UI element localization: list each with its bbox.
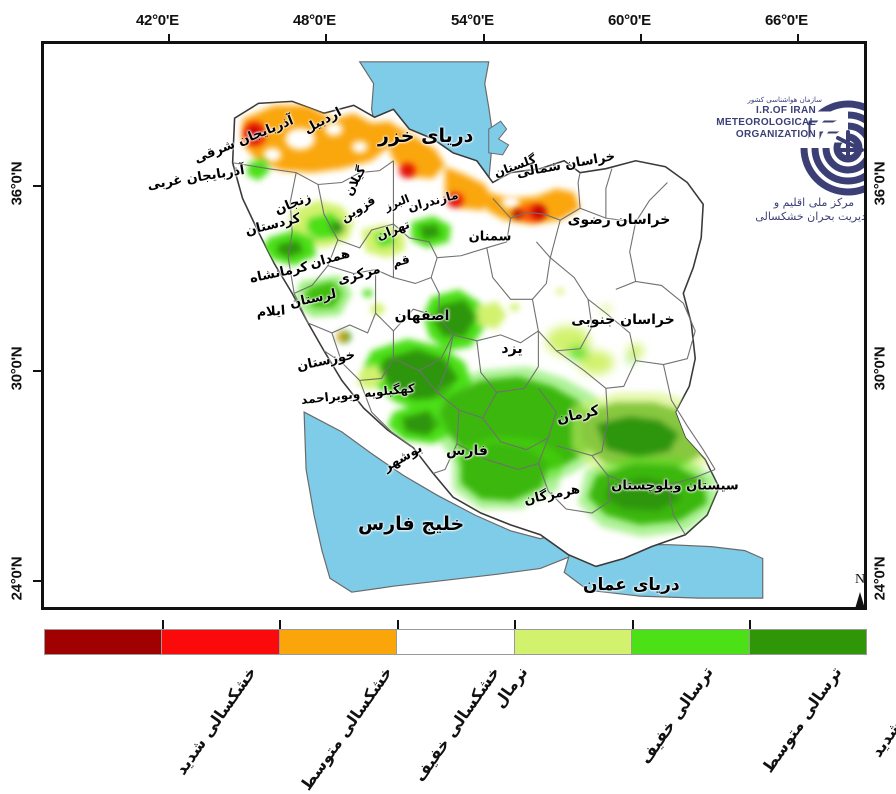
legend-tick-3 [397,620,399,629]
legend-label-mild-drought: خشکسالی خفیف [410,663,503,785]
legend-label-mild-wet: ترسالی خفیف [636,663,717,767]
province-label-yazd: یزد [501,341,522,357]
logo-caption-line1: مرکز ملی اقلیم و [720,196,867,209]
legend-tick-1 [162,620,164,629]
organization-logo: سازمان هواشناسی کشور I.R.OF IRAN METEORO… [720,96,867,226]
legend-tick-5 [632,620,634,629]
north-arrow-glyph [840,590,867,610]
province-label-ilam: ایلام [256,304,286,321]
legend-tick-6 [749,620,751,629]
x-tick-label-0: 42°0'E [136,12,179,29]
sea-label-caspian: دریای خزر [378,125,473,147]
x-tick-label-3: 60°0'E [608,12,651,29]
logo-en-line2: METEOROLOGICAL [716,117,816,128]
y-tick-label-right-2: 24°0'N [872,544,889,614]
x-tick-label-1: 48°0'E [293,12,336,29]
y-tick-label-right-1: 30°0'N [872,334,889,404]
legend-swatch-normal[interactable] [397,630,514,654]
logo-caption-line2: مدیریت بحران خشکسالی [720,210,867,223]
legend-label-moderate-wet: ترسالی متوسط [758,663,845,776]
sea-label-oman-sea: دریای عمان [583,575,680,595]
logo-fa-top: سازمان هواشناسی کشور [712,96,822,104]
y-tick-label-left-2: 24°0'N [9,544,26,614]
legend-label-severe-drought: خشکسالی شدید [171,663,260,778]
legend-swatch-severe-drought[interactable] [45,630,162,654]
province-label-semnan: سمنان [469,230,512,245]
legend-tick-2 [279,620,281,629]
legend-swatch-mild-wet[interactable] [515,630,632,654]
north-arrow-label: N [840,572,867,588]
province-label-sistan-baluchestan: سیستان وبلوچستان [611,479,738,494]
north-arrow: N [840,572,867,610]
y-tick-label-right-0: 36°0'N [872,149,889,219]
x-tick-label-4: 66°0'E [765,12,808,29]
legend-label-severe-wet: ترسالی شدید [867,663,896,760]
y-tick-label-left-0: 36°0'N [9,149,26,219]
logo-en-line3: ORGANIZATION [736,129,816,140]
sea-label-persian-gulf: خلیج فارس [358,513,464,535]
province-label-isfahan: اصفهان [395,308,450,324]
legend-swatch-severe-wet[interactable] [750,630,866,654]
legend-swatch-mild-drought[interactable] [280,630,397,654]
map-frame[interactable]: دریای خزرخلیج فارسدریای عمان اردبیلآذربا… [41,41,867,610]
logo-en-line1: I.R.OF IRAN [756,105,816,116]
legend-label-moderate-drought: خشکسالی متوسط [296,663,396,794]
legend-swatch-moderate-drought[interactable] [162,630,279,654]
y-tick-label-left-1: 30°0'N [9,334,26,404]
legend-colorbar[interactable] [44,629,867,655]
legend-swatch-moderate-wet[interactable] [632,630,749,654]
x-tick-label-2: 54°0'E [451,12,494,29]
map-page: 42°0'E48°0'E54°0'E60°0'E66°0'E 36°0'N36°… [0,0,896,769]
province-label-razavi-khorasan: خراسان رضوی [568,212,671,228]
legend-tick-4 [514,620,516,629]
province-label-fars: فارس [446,443,488,459]
province-label-south-khorasan: خراسان جنوبی [571,312,674,328]
